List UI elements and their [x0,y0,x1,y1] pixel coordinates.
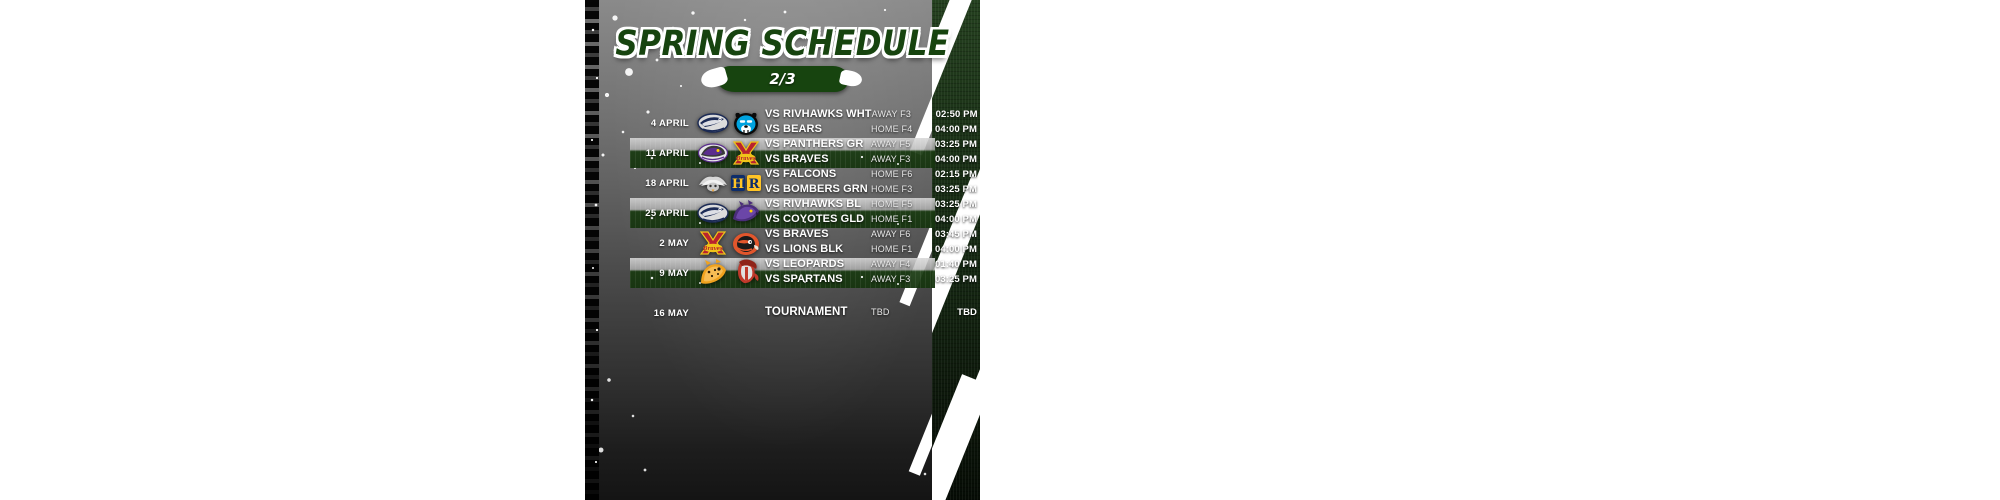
matchup-team: VS LEOPARDS [765,258,871,270]
matchup-team: VS COYOTES GLD [765,213,871,225]
matchup-team: VS BRAVES [765,228,871,240]
matchup-time: 04:00 PM [929,124,977,135]
schedule-group-inner: 2 MAYBravesVS BRAVESAWAY F603:45 PMVS LI… [585,228,980,258]
matchups: TOURNAMENTTBDTBD [765,306,980,321]
schedule-list: 4 APRILVS RIVHAWKS WHTAWAY F302:50 PMVS … [585,108,980,328]
schedule-date: 2 MAY [585,238,697,249]
matchup-team: VS LIONS BLK [765,243,871,255]
matchup-team: VS BEARS [765,123,871,135]
matchup-location: HOME F1 [871,214,929,224]
coyotes-logo [730,199,762,227]
page-subtitle: 2/3 [717,66,849,92]
matchup-time: 03:45 PM [929,229,977,240]
schedule-group[interactable]: 25 APRILVS RIVHAWKS BLHOME F503:25 PMVS … [585,198,980,228]
matchup-row[interactable]: VS BRAVESAWAY F603:45 PM [765,228,980,243]
subtitle-brush-badge: 2/3 [717,66,849,92]
paint-splatter-bottom-icon [585,350,980,500]
matchup-location: HOME F6 [871,169,929,179]
matchup-team: VS RIVHAWKS WHT [765,108,872,120]
matchup-location: HOME F3 [871,184,929,194]
matchups: VS RIVHAWKS BLHOME F503:25 PMVS COYOTES … [765,198,980,228]
schedule-group[interactable]: 9 MAYVS LEOPARDSAWAY F401:40 PMVS SPARTA… [585,258,980,288]
schedule-date: 9 MAY [585,268,697,279]
schedule-group[interactable]: 11 APRILBravesVS PANTHERS GRAWAY F503:25… [585,138,980,168]
matchup-row[interactable]: VS BEARSHOME F404:00 PM [765,123,980,138]
matchup-location: AWAY F3 [871,154,929,164]
matchups: VS LEOPARDSAWAY F401:40 PMVS SPARTANSAWA… [765,258,980,288]
team-logos [697,109,765,137]
matchup-row[interactable]: VS SPARTANSAWAY F303:25 PM [765,273,980,288]
schedule-date: 16 MAY [585,308,697,319]
matchup-time: 04:00 PM [929,154,977,165]
matchup-time: 04:00 PM [929,244,977,255]
schedule-group-inner: 16 MAYTOURNAMENTTBDTBD [585,306,980,321]
matchup-team: VS BOMBERS GRN [765,183,871,195]
braves-logo: Braves [697,229,729,257]
schedule-date: 11 APRIL [585,148,697,159]
matchups: VS FALCONSHOME F602:15 PMVS BOMBERS GRNH… [765,168,980,198]
team-logos [697,259,765,287]
svg-text:H: H [732,177,744,192]
matchup-team: VS RIVHAWKS BL [765,198,871,210]
schedule-group[interactable]: 2 MAYBravesVS BRAVESAWAY F603:45 PMVS LI… [585,228,980,258]
matchup-time: 04:00 PM [929,214,977,225]
matchup-team: VS FALCONS [765,168,871,180]
matchups: VS RIVHAWKS WHTAWAY F302:50 PMVS BEARSHO… [765,108,980,138]
svg-text:Braves: Braves [702,246,723,252]
matchup-row[interactable]: VS RIVHAWKS BLHOME F503:25 PM [765,198,980,213]
matchup-time: 02:15 PM [929,169,977,180]
schedule-group-inner: 11 APRILBravesVS PANTHERS GRAWAY F503:25… [585,138,980,168]
page-title: SPRING SCHEDULE [615,24,949,64]
matchup-team: VS SPARTANS [765,273,871,285]
matchup-row[interactable]: VS RIVHAWKS WHTAWAY F302:50 PM [765,108,980,123]
matchup-row[interactable]: VS COYOTES GLDHOME F104:00 PM [765,213,980,228]
matchup-location: HOME F5 [871,199,929,209]
matchup-time: 03:25 PM [929,274,977,285]
matchup-location: TBD [871,307,929,317]
matchups: VS BRAVESAWAY F603:45 PMVS LIONS BLKHOME… [765,228,980,258]
matchup-time: 03:25 PM [929,184,977,195]
schedule-date: 4 APRIL [585,118,697,129]
team-logos: HR [697,169,765,197]
matchup-location: AWAY F6 [871,229,929,239]
matchup-time: TBD [929,307,977,318]
lions-logo [730,229,762,257]
matchup-row[interactable]: VS BOMBERS GRNHOME F303:25 PM [765,183,980,198]
matchup-location: HOME F1 [871,244,929,254]
schedule-group-inner: 9 MAYVS LEOPARDSAWAY F401:40 PMVS SPARTA… [585,258,980,288]
falcons-logo [697,169,729,197]
panthers-logo [697,139,729,167]
team-logos: Braves [697,139,765,167]
matchups: VS PANTHERS GRAWAY F503:25 PMVS BRAVESAW… [765,138,980,168]
schedule-group[interactable]: 16 MAYTOURNAMENTTBDTBD [585,298,980,328]
screenshot-stage: SPRING SCHEDULE 2/3 4 APRILVS RIVHAWKS W… [0,0,2000,500]
spartans-logo [730,259,762,287]
matchup-time: 03:25 PM [929,199,977,210]
bears-logo [730,109,762,137]
svg-text:R: R [749,177,760,192]
matchup-location: AWAY F3 [871,274,929,284]
bombers-logo: HR [730,169,762,197]
team-logos: Braves [697,229,765,257]
matchup-row[interactable]: VS FALCONSHOME F602:15 PM [765,168,980,183]
schedule-group-inner: 25 APRILVS RIVHAWKS BLHOME F503:25 PMVS … [585,198,980,228]
matchup-row[interactable]: VS BRAVESAWAY F304:00 PM [765,153,980,168]
matchup-row[interactable]: VS PANTHERS GRAWAY F503:25 PM [765,138,980,153]
matchup-location: AWAY F4 [871,259,929,269]
leopards-logo [697,259,729,287]
matchup-team: TOURNAMENT [765,306,871,318]
matchup-team: VS PANTHERS GR [765,138,871,150]
matchup-location: AWAY F3 [872,109,930,119]
matchup-time: 01:40 PM [929,259,977,270]
matchup-row[interactable]: VS LEOPARDSAWAY F401:40 PM [765,258,980,273]
braves-logo: Braves [730,139,762,167]
schedule-group[interactable]: 4 APRILVS RIVHAWKS WHTAWAY F302:50 PMVS … [585,108,980,138]
matchup-row[interactable]: VS LIONS BLKHOME F104:00 PM [765,243,980,258]
schedule-group-inner: 18 APRILHRVS FALCONSHOME F602:15 PMVS BO… [585,168,980,198]
team-logos [697,199,765,227]
schedule-date: 18 APRIL [585,178,697,189]
matchup-time: 03:25 PM [929,139,977,150]
rivhawks-logo [697,199,729,227]
schedule-group[interactable]: 18 APRILHRVS FALCONSHOME F602:15 PMVS BO… [585,168,980,198]
rivhawks-logo [697,109,729,137]
matchup-row[interactable]: TOURNAMENTTBDTBD [765,306,980,321]
matchup-location: HOME F4 [871,124,929,134]
svg-text:Braves: Braves [735,156,756,162]
matchup-location: AWAY F5 [871,139,929,149]
matchup-team: VS BRAVES [765,153,871,165]
schedule-group-inner: 4 APRILVS RIVHAWKS WHTAWAY F302:50 PMVS … [585,108,980,138]
poster-title-block: SPRING SCHEDULE 2/3 [585,26,980,92]
matchup-time: 02:50 PM [930,109,978,120]
schedule-date: 25 APRIL [585,208,697,219]
spring-schedule-poster: SPRING SCHEDULE 2/3 4 APRILVS RIVHAWKS W… [585,0,980,500]
